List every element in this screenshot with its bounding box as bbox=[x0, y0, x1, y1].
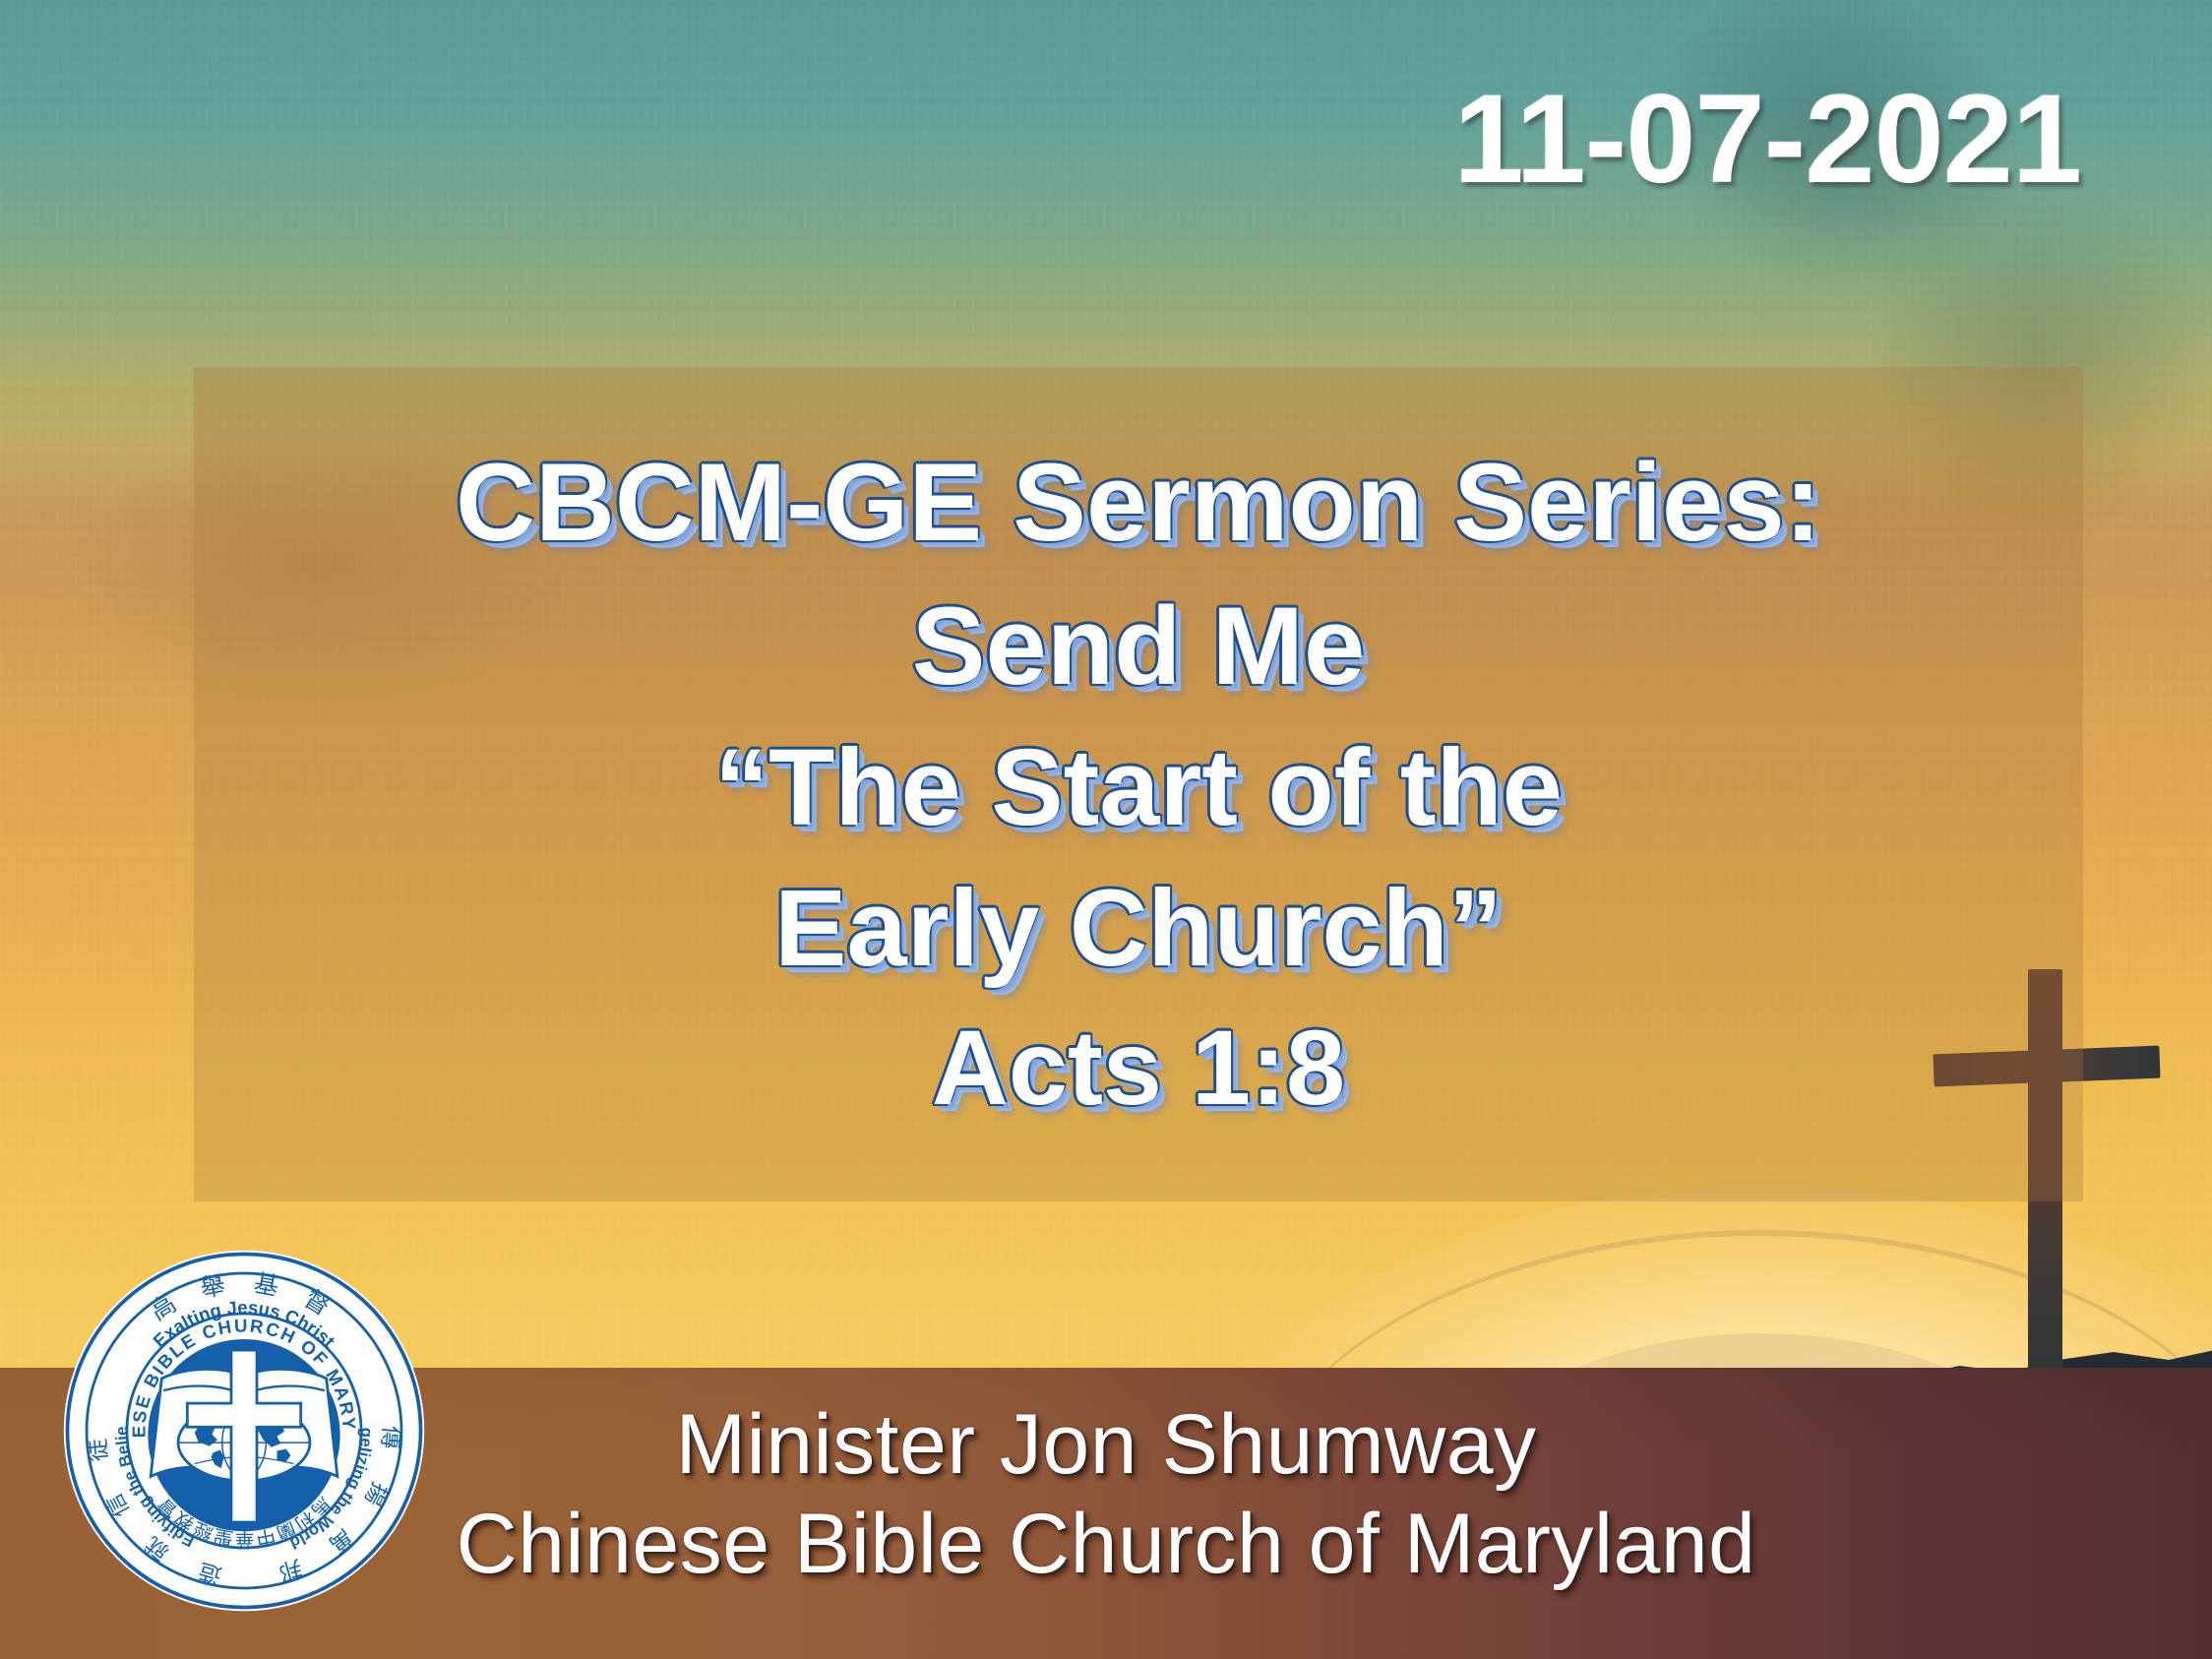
title-line-3: “The Start of the bbox=[714, 717, 1563, 858]
sermon-title-slide: 11-07-2021 CBCM-GE Sermon Series: Send M… bbox=[0, 0, 2212, 1659]
sermon-date: 11-07-2021 bbox=[1453, 77, 2081, 203]
church-logo: 高 舉 基 督 傳 揚 萬 邦 造 就 信 徒 Exalting Jesus C… bbox=[61, 1248, 427, 1614]
title-line-5: Acts 1:8 bbox=[932, 999, 1345, 1137]
title-line-2: Send Me bbox=[912, 575, 1366, 718]
title-line-1: CBCM-GE Sermon Series: bbox=[456, 431, 1821, 575]
title-overlay-box: CBCM-GE Sermon Series: Send Me “The Star… bbox=[194, 367, 2083, 1201]
title-line-4: Early Church” bbox=[774, 858, 1503, 999]
